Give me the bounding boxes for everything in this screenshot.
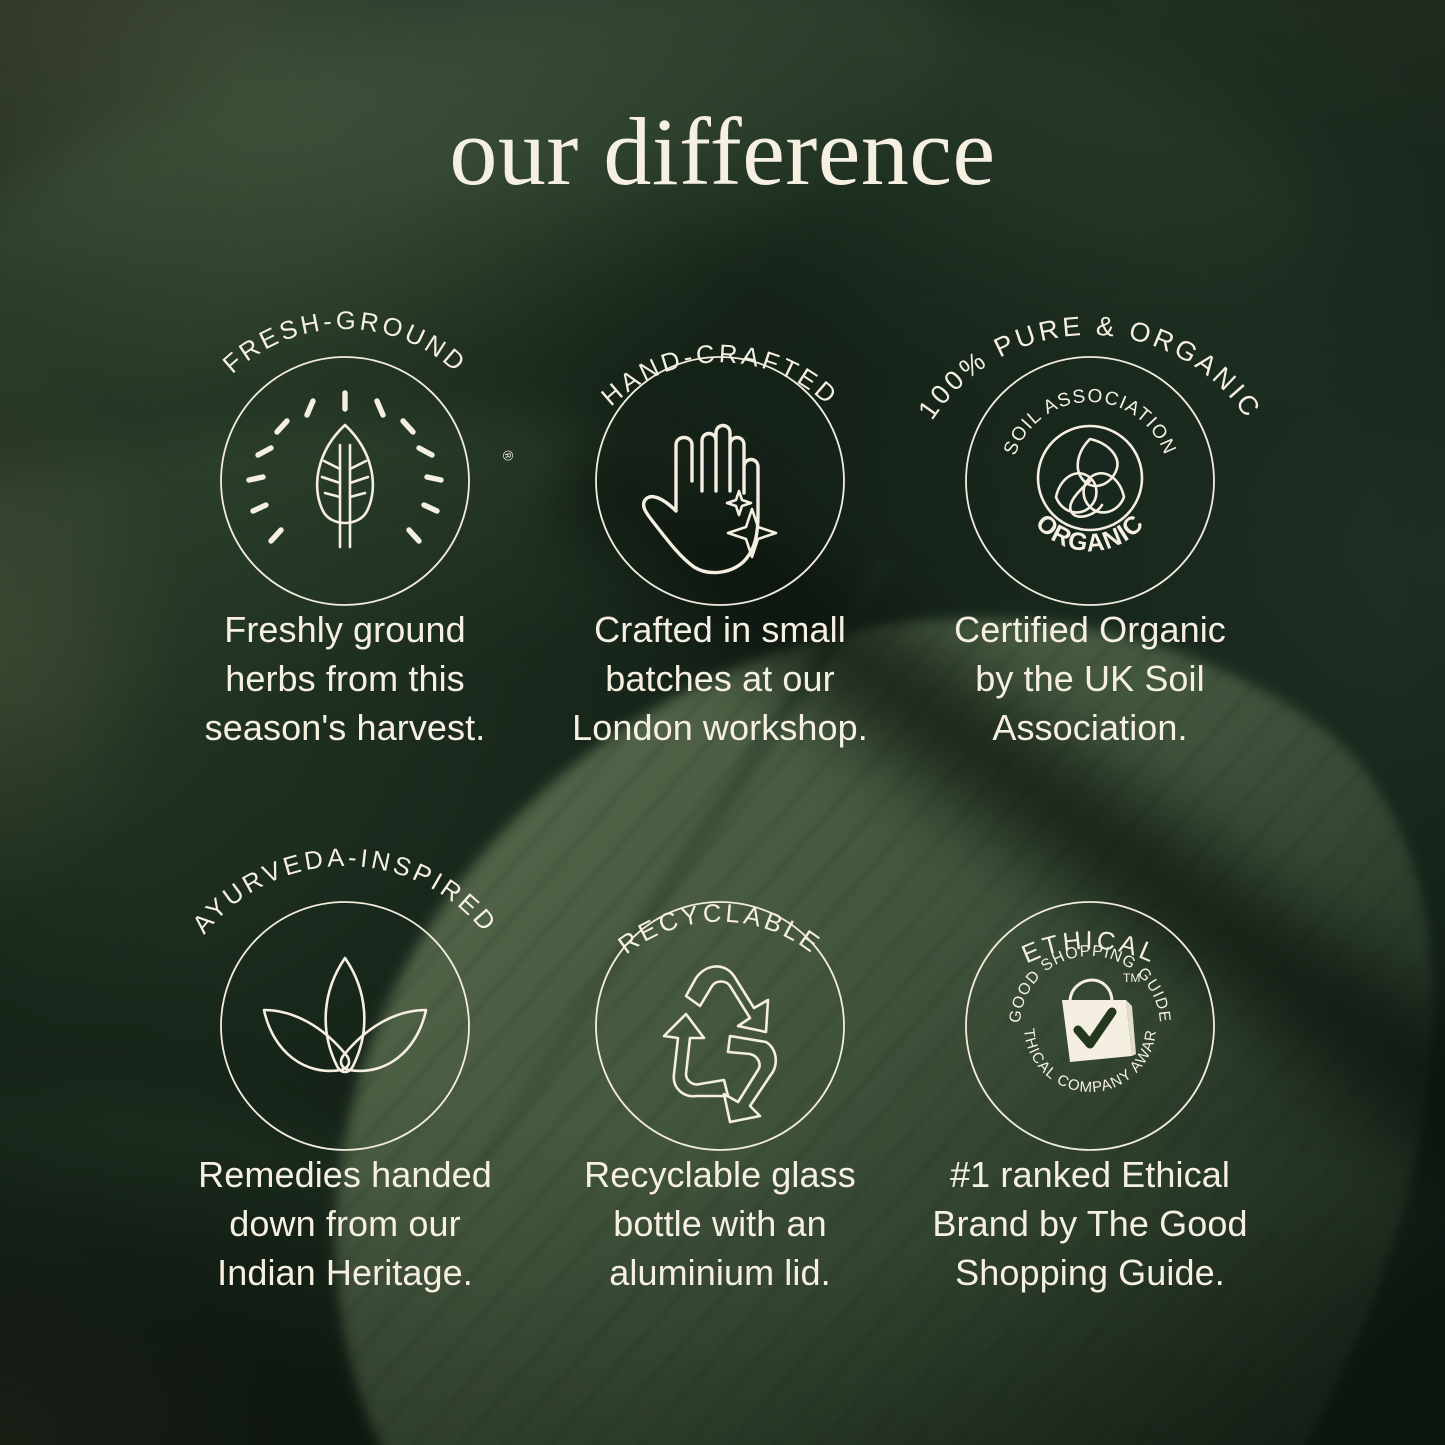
arc-label-fresh-ground: FRESH-GROUND [218, 307, 472, 379]
caption-line: aluminium lid. [510, 1248, 930, 1297]
caption-line: London workshop. [510, 703, 930, 752]
caption-line: season's harvest. [135, 703, 555, 752]
caption-hand-crafted: Crafted in small batches at our London w… [510, 605, 930, 752]
caption-line: Crafted in small [510, 605, 930, 654]
lotus-leaf-icon [264, 958, 426, 1072]
feature-item-recyclable: RECYCLABLE Recyclable glass bottle with … [510, 830, 930, 1297]
caption-line: by the UK Soil [880, 654, 1300, 703]
badge-outline-circle [221, 902, 469, 1150]
feature-grid: FRESH-GROUND ® [0, 0, 1445, 1445]
caption-line: Indian Heritage. [135, 1248, 555, 1297]
feature-item-ethical: ETHICAL GOOD SHOPPING GUIDE [880, 830, 1300, 1297]
badge-ayurveda: AYURVEDA-INSPIRED [135, 830, 555, 1150]
recycling-arrows-icon [664, 966, 776, 1122]
caption-line: down from our [135, 1199, 555, 1248]
caption-pure-organic: Certified Organic by the UK Soil Associa… [880, 605, 1300, 752]
badge-fresh-ground: FRESH-GROUND ® [135, 285, 555, 605]
caption-recyclable: Recyclable glass bottle with an aluminiu… [510, 1150, 930, 1297]
open-hand-sparkle-icon [644, 426, 776, 573]
badge-ethical: ETHICAL GOOD SHOPPING GUIDE [880, 830, 1300, 1150]
arc-label-ayurveda: AYURVEDA-INSPIRED [187, 844, 502, 939]
trademark-mark: TM [1123, 971, 1140, 985]
caption-line: Recyclable glass [510, 1150, 930, 1199]
caption-line: Remedies handed [135, 1150, 555, 1199]
arc-label-hand-crafted: HAND-CRAFTED [596, 340, 844, 412]
feature-item-hand-crafted: HAND-CRAFTED Crafted in small batches at… [510, 285, 930, 752]
badge-hand-crafted: HAND-CRAFTED [510, 285, 930, 605]
soil-association-top-text: SOIL ASSOCIATION [1000, 386, 1180, 459]
caption-line: Certified Organic [880, 605, 1300, 654]
soil-association-organic-icon: SOIL ASSOCIATION ORGANIC [1000, 386, 1180, 558]
caption-ayurveda: Remedies handed down from our Indian Her… [135, 1150, 555, 1297]
feature-item-fresh-ground: FRESH-GROUND ® [135, 285, 555, 752]
our-difference-panel: our difference FRESH-GROUND ® [0, 0, 1445, 1445]
caption-ethical: #1 ranked Ethical Brand by The Good Shop… [880, 1150, 1300, 1297]
feature-item-pure-organic: 100% PURE & ORGANIC SOIL ASSOCIATION [880, 285, 1300, 752]
caption-line: Shopping Guide. [880, 1248, 1300, 1297]
shopping-bag-check-icon [1062, 980, 1136, 1062]
caption-line: Freshly ground [135, 605, 555, 654]
caption-fresh-ground: Freshly ground herbs from this season's … [135, 605, 555, 752]
arc-label-text: FRESH-GROUND [218, 307, 472, 379]
arc-label-recyclable: RECYCLABLE [613, 899, 826, 959]
caption-line: #1 ranked Ethical [880, 1150, 1300, 1199]
badge-recyclable: RECYCLABLE [510, 830, 930, 1150]
feature-item-ayurveda: AYURVEDA-INSPIRED Remedies handed down f… [135, 830, 555, 1297]
caption-line: bottle with an [510, 1199, 930, 1248]
badge-pure-organic: 100% PURE & ORGANIC SOIL ASSOCIATION [880, 285, 1300, 605]
arc-label-pure-organic: 100% PURE & ORGANIC [912, 311, 1267, 425]
caption-line: Association. [880, 703, 1300, 752]
caption-line: herbs from this [135, 654, 555, 703]
caption-line: Brand by The Good [880, 1199, 1300, 1248]
caption-line: batches at our [510, 654, 930, 703]
sprouting-leaf-icon [249, 393, 441, 547]
